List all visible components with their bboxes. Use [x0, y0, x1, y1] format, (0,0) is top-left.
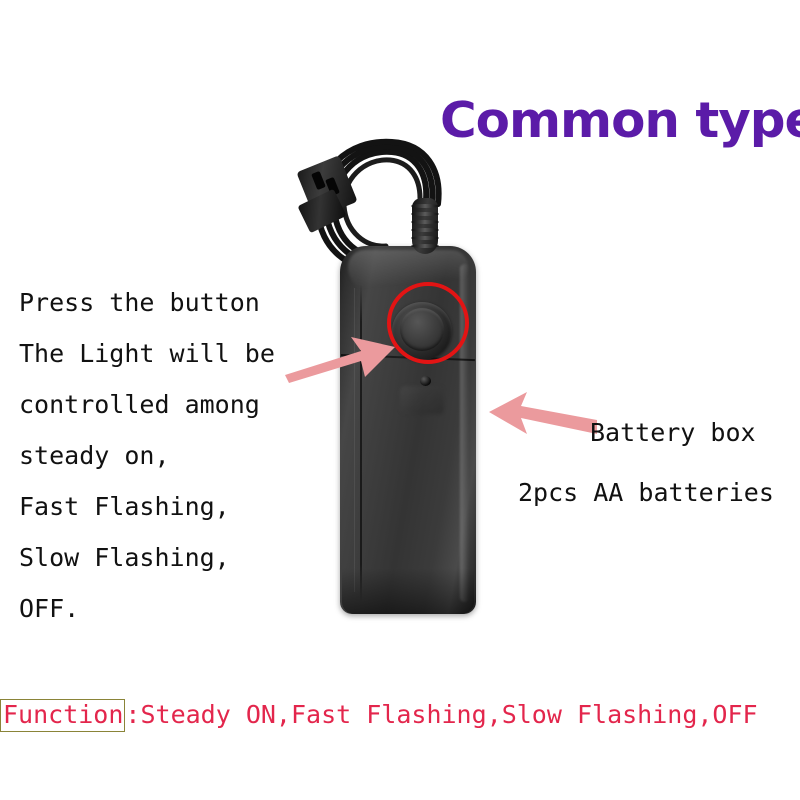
- instruction-line: OFF.: [19, 583, 329, 634]
- function-banner: Function :Steady ON,Fast Flashing,Slow F…: [0, 696, 800, 734]
- instruction-text-block: Press the button The Light will be contr…: [19, 277, 329, 634]
- boot-rib: [411, 212, 439, 216]
- function-modes-text: :Steady ON,Fast Flashing,Slow Flashing,O…: [125, 702, 757, 728]
- sm-connector: [300, 154, 358, 228]
- box-bottom-shadow: [342, 568, 474, 614]
- box-molded-emboss: [400, 386, 444, 414]
- boot-rib: [411, 244, 439, 248]
- indicator-dot: [420, 376, 431, 386]
- function-label-box: Function: [0, 699, 125, 732]
- infographic-canvas: Common type: [0, 0, 800, 800]
- boot-rib: [411, 220, 439, 224]
- arrow-pointing-to-battery-box: [487, 390, 599, 442]
- callout-aa-batteries: 2pcs AA batteries: [518, 478, 774, 507]
- boot-rib: [411, 236, 439, 240]
- instruction-line: Press the button: [19, 277, 329, 328]
- boot-rib: [411, 228, 439, 232]
- instruction-line: steady on,: [19, 430, 329, 481]
- instruction-line: The Light will be: [19, 328, 329, 379]
- instruction-line: Fast Flashing,: [19, 481, 329, 532]
- callout-battery-box: Battery box: [590, 418, 756, 447]
- boot-rib: [411, 204, 439, 208]
- instruction-line: controlled among: [19, 379, 329, 430]
- instruction-line: Slow Flashing,: [19, 532, 329, 583]
